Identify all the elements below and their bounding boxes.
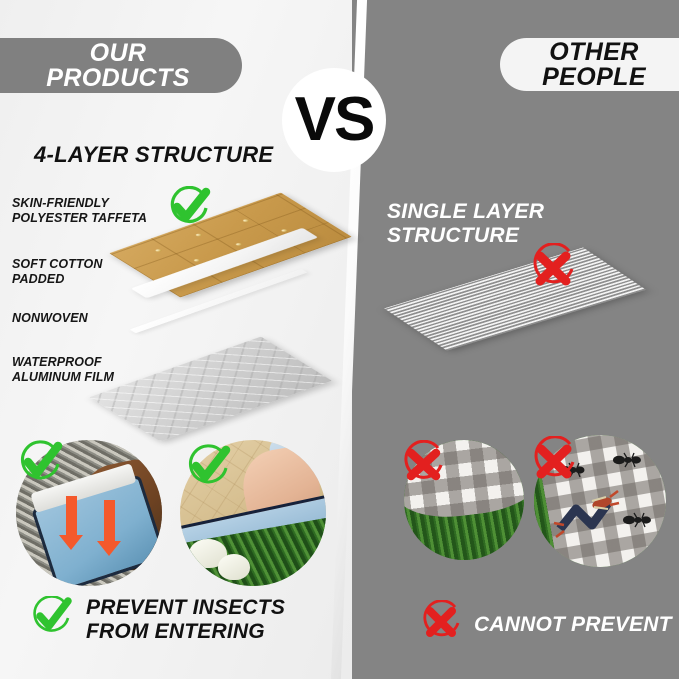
our-products-line1: OUR xyxy=(46,41,189,66)
cross-badge-photo-3 xyxy=(398,440,448,488)
ant-icon xyxy=(612,451,644,469)
cross-icon xyxy=(418,600,464,649)
single-layer-structure-title: SINGLE LAYER STRUCTURE xyxy=(387,200,679,248)
layer-label-line1: SOFT COTTON xyxy=(12,257,102,272)
layer-taffeta-top xyxy=(109,193,352,298)
four-layer-structure-title: 4-LAYER STRUCTURE xyxy=(34,142,273,168)
other-people-panel xyxy=(352,0,679,679)
layer-label-nonwoven: NONWOVEN xyxy=(12,311,88,326)
caption-line1: CANNOT PREVENT xyxy=(474,613,672,637)
caption-line1: PREVENT INSECTS xyxy=(86,596,285,620)
our-products-line2: PRODUCTS xyxy=(46,66,189,91)
other-people-header: OTHER PEOPLE xyxy=(500,38,679,91)
cross-badge-photo-4 xyxy=(528,436,580,486)
check-badge-layers xyxy=(166,186,212,230)
layer-label-line1: NONWOVEN xyxy=(12,311,88,326)
cross-badge-single-layer xyxy=(527,243,579,293)
vs-badge: VS xyxy=(282,68,386,172)
layer-label-cotton: SOFT COTTON PADDED xyxy=(12,257,102,288)
vs-label: VS xyxy=(295,89,374,151)
down-arrow xyxy=(66,496,77,536)
comparison-infographic: 4-LAYER STRUCTURE SKIN-FRIENDLY POLYESTE… xyxy=(0,0,679,679)
down-arrow xyxy=(104,500,115,542)
prevent-insects-caption: PREVENT INSECTS FROM ENTERING xyxy=(30,596,285,644)
check-badge-photo-1 xyxy=(16,440,64,486)
check-icon xyxy=(30,596,74,643)
check-badge-photo-2 xyxy=(184,444,232,490)
other-people-line1: OTHER xyxy=(542,40,646,65)
vegetable-shape xyxy=(218,554,250,580)
cannot-prevent-caption: CANNOT PREVENT xyxy=(418,600,672,649)
exploded-layer-illustration xyxy=(95,178,355,423)
layer-label-line2: PADDED xyxy=(12,272,102,287)
other-people-line2: PEOPLE xyxy=(542,65,646,90)
caption-line2: FROM ENTERING xyxy=(86,620,285,644)
our-products-header: OUR PRODUCTS xyxy=(0,38,242,93)
ant-icon xyxy=(622,511,654,529)
large-insect-icon xyxy=(552,487,620,539)
